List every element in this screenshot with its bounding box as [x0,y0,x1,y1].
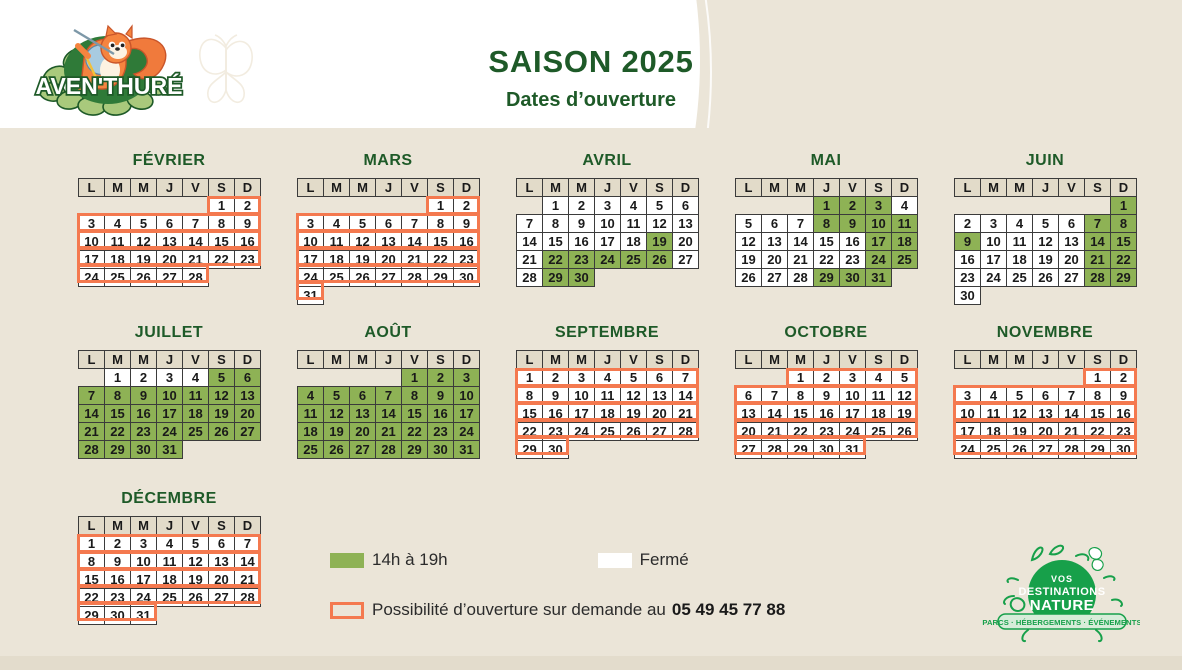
day-cell[interactable]: 31 [298,287,324,305]
day-cell[interactable]: 22 [105,423,131,441]
day-cell[interactable]: 13 [1059,233,1085,251]
day-cell[interactable]: 29 [428,269,454,287]
day-cell[interactable]: 6 [736,387,762,405]
day-cell[interactable]: 17 [981,251,1007,269]
day-cell[interactable]: 20 [350,423,376,441]
day-cell[interactable]: 16 [105,571,131,589]
day-cell[interactable]: 22 [209,251,235,269]
day-cell[interactable]: 1 [105,369,131,387]
day-cell[interactable]: 24 [955,441,981,459]
day-cell[interactable]: 8 [517,387,543,405]
day-cell[interactable]: 28 [673,423,699,441]
day-cell[interactable]: 2 [955,215,981,233]
day-cell[interactable]: 3 [981,215,1007,233]
day-cell[interactable]: 3 [955,387,981,405]
day-cell[interactable]: 6 [157,215,183,233]
day-cell[interactable]: 16 [814,405,840,423]
day-cell[interactable]: 17 [569,405,595,423]
day-cell[interactable]: 6 [647,369,673,387]
day-cell[interactable]: 29 [79,607,105,625]
day-cell[interactable]: 8 [105,387,131,405]
day-cell[interactable]: 19 [1007,423,1033,441]
day-cell[interactable]: 24 [79,269,105,287]
day-cell[interactable]: 20 [376,251,402,269]
day-cell[interactable]: 2 [428,369,454,387]
day-cell[interactable]: 13 [1033,405,1059,423]
day-cell[interactable]: 25 [892,251,918,269]
day-cell[interactable]: 7 [517,215,543,233]
day-cell[interactable]: 1 [543,197,569,215]
day-cell[interactable]: 25 [981,441,1007,459]
day-cell[interactable]: 31 [131,607,157,625]
day-cell[interactable]: 18 [892,233,918,251]
day-cell[interactable]: 12 [621,387,647,405]
day-cell[interactable]: 21 [402,251,428,269]
day-cell[interactable]: 27 [376,269,402,287]
day-cell[interactable]: 10 [79,233,105,251]
day-cell[interactable]: 26 [892,423,918,441]
day-cell[interactable]: 13 [350,405,376,423]
day-cell[interactable]: 23 [131,423,157,441]
day-cell[interactable]: 6 [1059,215,1085,233]
day-cell[interactable]: 28 [235,589,261,607]
day-cell[interactable]: 9 [454,215,480,233]
day-cell[interactable]: 12 [736,233,762,251]
day-cell[interactable]: 21 [673,405,699,423]
day-cell[interactable]: 4 [621,197,647,215]
day-cell[interactable]: 3 [454,369,480,387]
day-cell[interactable]: 5 [209,369,235,387]
day-cell[interactable]: 19 [892,405,918,423]
day-cell[interactable]: 11 [1007,233,1033,251]
day-cell[interactable]: 17 [454,405,480,423]
day-cell[interactable]: 10 [454,387,480,405]
day-cell[interactable]: 7 [788,215,814,233]
day-cell[interactable]: 3 [79,215,105,233]
day-cell[interactable]: 27 [647,423,673,441]
day-cell[interactable]: 20 [235,405,261,423]
day-cell[interactable]: 10 [157,387,183,405]
day-cell[interactable]: 21 [79,423,105,441]
day-cell[interactable]: 14 [183,233,209,251]
day-cell[interactable]: 1 [814,197,840,215]
day-cell[interactable]: 4 [595,369,621,387]
day-cell[interactable]: 8 [1111,215,1137,233]
day-cell[interactable]: 1 [1085,369,1111,387]
day-cell[interactable]: 5 [1033,215,1059,233]
day-cell[interactable]: 24 [157,423,183,441]
day-cell[interactable]: 24 [131,589,157,607]
day-cell[interactable]: 28 [183,269,209,287]
day-cell[interactable]: 23 [105,589,131,607]
day-cell[interactable]: 12 [892,387,918,405]
day-cell[interactable]: 11 [157,553,183,571]
day-cell[interactable]: 7 [762,387,788,405]
day-cell[interactable]: 19 [647,233,673,251]
day-cell[interactable]: 13 [647,387,673,405]
day-cell[interactable]: 9 [131,387,157,405]
day-cell[interactable]: 4 [892,197,918,215]
day-cell[interactable]: 13 [157,233,183,251]
day-cell[interactable]: 23 [1111,423,1137,441]
day-cell[interactable]: 17 [595,233,621,251]
day-cell[interactable]: 7 [79,387,105,405]
day-cell[interactable]: 22 [79,589,105,607]
day-cell[interactable]: 17 [298,251,324,269]
day-cell[interactable]: 26 [647,251,673,269]
day-cell[interactable]: 10 [298,233,324,251]
day-cell[interactable]: 14 [1059,405,1085,423]
day-cell[interactable]: 6 [235,369,261,387]
day-cell[interactable]: 8 [814,215,840,233]
day-cell[interactable]: 17 [79,251,105,269]
day-cell[interactable]: 19 [324,423,350,441]
day-cell[interactable]: 26 [209,423,235,441]
day-cell[interactable]: 1 [428,197,454,215]
day-cell[interactable]: 27 [1059,269,1085,287]
day-cell[interactable]: 26 [736,269,762,287]
day-cell[interactable]: 23 [955,269,981,287]
day-cell[interactable]: 29 [788,441,814,459]
day-cell[interactable]: 2 [569,197,595,215]
day-cell[interactable]: 16 [235,233,261,251]
day-cell[interactable]: 16 [840,233,866,251]
day-cell[interactable]: 18 [595,405,621,423]
day-cell[interactable]: 7 [376,387,402,405]
day-cell[interactable]: 9 [105,553,131,571]
day-cell[interactable]: 17 [866,233,892,251]
day-cell[interactable]: 18 [157,571,183,589]
day-cell[interactable]: 14 [79,405,105,423]
day-cell[interactable]: 3 [157,369,183,387]
day-cell[interactable]: 19 [131,251,157,269]
day-cell[interactable]: 16 [543,405,569,423]
day-cell[interactable]: 24 [298,269,324,287]
day-cell[interactable]: 10 [955,405,981,423]
day-cell[interactable]: 28 [79,441,105,459]
day-cell[interactable]: 13 [376,233,402,251]
day-cell[interactable]: 31 [840,441,866,459]
day-cell[interactable]: 9 [428,387,454,405]
day-cell[interactable]: 27 [736,441,762,459]
day-cell[interactable]: 1 [402,369,428,387]
day-cell[interactable]: 5 [324,387,350,405]
day-cell[interactable]: 27 [673,251,699,269]
day-cell[interactable]: 24 [981,269,1007,287]
day-cell[interactable]: 16 [1111,405,1137,423]
day-cell[interactable]: 28 [762,441,788,459]
day-cell[interactable]: 30 [105,607,131,625]
day-cell[interactable]: 3 [866,197,892,215]
day-cell[interactable]: 24 [454,423,480,441]
day-cell[interactable]: 23 [543,423,569,441]
day-cell[interactable]: 6 [350,387,376,405]
day-cell[interactable]: 4 [866,369,892,387]
day-cell[interactable]: 18 [621,233,647,251]
day-cell[interactable]: 30 [840,269,866,287]
day-cell[interactable]: 13 [235,387,261,405]
day-cell[interactable]: 7 [673,369,699,387]
day-cell[interactable]: 5 [131,215,157,233]
day-cell[interactable]: 10 [981,233,1007,251]
day-cell[interactable]: 16 [454,233,480,251]
day-cell[interactable]: 6 [673,197,699,215]
day-cell[interactable]: 3 [131,535,157,553]
day-cell[interactable]: 20 [1033,423,1059,441]
day-cell[interactable]: 14 [673,387,699,405]
day-cell[interactable]: 18 [298,423,324,441]
day-cell[interactable]: 30 [454,269,480,287]
day-cell[interactable]: 4 [298,387,324,405]
day-cell[interactable]: 17 [131,571,157,589]
day-cell[interactable]: 18 [105,251,131,269]
day-cell[interactable]: 14 [788,233,814,251]
day-cell[interactable]: 23 [428,423,454,441]
day-cell[interactable]: 8 [79,553,105,571]
day-cell[interactable]: 9 [569,215,595,233]
day-cell[interactable]: 25 [866,423,892,441]
day-cell[interactable]: 29 [543,269,569,287]
day-cell[interactable]: 21 [788,251,814,269]
day-cell[interactable]: 11 [183,387,209,405]
day-cell[interactable]: 2 [840,197,866,215]
day-cell[interactable]: 30 [543,441,569,459]
day-cell[interactable]: 13 [762,233,788,251]
day-cell[interactable]: 28 [376,441,402,459]
day-cell[interactable]: 20 [647,405,673,423]
day-cell[interactable]: 23 [569,251,595,269]
day-cell[interactable]: 7 [402,215,428,233]
day-cell[interactable]: 3 [595,197,621,215]
day-cell[interactable]: 29 [1085,441,1111,459]
day-cell[interactable]: 26 [621,423,647,441]
day-cell[interactable]: 15 [79,571,105,589]
day-cell[interactable]: 15 [517,405,543,423]
day-cell[interactable]: 5 [621,369,647,387]
day-cell[interactable]: 25 [183,423,209,441]
day-cell[interactable]: 26 [1007,441,1033,459]
day-cell[interactable]: 24 [595,251,621,269]
day-cell[interactable]: 18 [981,423,1007,441]
day-cell[interactable]: 11 [105,233,131,251]
day-cell[interactable]: 21 [183,251,209,269]
day-cell[interactable]: 15 [428,233,454,251]
day-cell[interactable]: 27 [235,423,261,441]
day-cell[interactable]: 28 [1085,269,1111,287]
day-cell[interactable]: 4 [183,369,209,387]
day-cell[interactable]: 5 [350,215,376,233]
day-cell[interactable]: 25 [157,589,183,607]
day-cell[interactable]: 5 [647,197,673,215]
day-cell[interactable]: 15 [209,233,235,251]
day-cell[interactable]: 29 [105,441,131,459]
day-cell[interactable]: 10 [840,387,866,405]
day-cell[interactable]: 20 [209,571,235,589]
day-cell[interactable]: 25 [595,423,621,441]
day-cell[interactable]: 8 [209,215,235,233]
day-cell[interactable]: 9 [1111,387,1137,405]
day-cell[interactable]: 15 [105,405,131,423]
day-cell[interactable]: 3 [569,369,595,387]
day-cell[interactable]: 27 [157,269,183,287]
day-cell[interactable]: 2 [105,535,131,553]
day-cell[interactable]: 24 [840,423,866,441]
day-cell[interactable]: 11 [298,405,324,423]
day-cell[interactable]: 21 [1085,251,1111,269]
day-cell[interactable]: 27 [209,589,235,607]
day-cell[interactable]: 17 [840,405,866,423]
day-cell[interactable]: 25 [298,441,324,459]
day-cell[interactable]: 5 [736,215,762,233]
day-cell[interactable]: 18 [183,405,209,423]
day-cell[interactable]: 18 [324,251,350,269]
day-cell[interactable]: 1 [1111,197,1137,215]
day-cell[interactable]: 15 [402,405,428,423]
day-cell[interactable]: 12 [324,405,350,423]
day-cell[interactable]: 3 [298,215,324,233]
day-cell[interactable]: 31 [157,441,183,459]
day-cell[interactable]: 26 [183,589,209,607]
day-cell[interactable]: 14 [762,405,788,423]
day-cell[interactable]: 1 [788,369,814,387]
day-cell[interactable]: 4 [157,535,183,553]
day-cell[interactable]: 15 [788,405,814,423]
day-cell[interactable]: 4 [981,387,1007,405]
day-cell[interactable]: 12 [1007,405,1033,423]
day-cell[interactable]: 21 [376,423,402,441]
day-cell[interactable]: 25 [1007,269,1033,287]
day-cell[interactable]: 20 [673,233,699,251]
day-cell[interactable]: 22 [543,251,569,269]
day-cell[interactable]: 28 [788,269,814,287]
day-cell[interactable]: 11 [324,233,350,251]
day-cell[interactable]: 13 [736,405,762,423]
day-cell[interactable]: 28 [517,269,543,287]
day-cell[interactable]: 11 [981,405,1007,423]
day-cell[interactable]: 30 [569,269,595,287]
day-cell[interactable]: 12 [131,233,157,251]
day-cell[interactable]: 4 [105,215,131,233]
day-cell[interactable]: 7 [235,535,261,553]
day-cell[interactable]: 15 [814,233,840,251]
day-cell[interactable]: 5 [892,369,918,387]
day-cell[interactable]: 29 [1111,269,1137,287]
day-cell[interactable]: 21 [1059,423,1085,441]
day-cell[interactable]: 9 [235,215,261,233]
day-cell[interactable]: 20 [736,423,762,441]
day-cell[interactable]: 30 [1111,441,1137,459]
day-cell[interactable]: 16 [955,251,981,269]
day-cell[interactable]: 25 [621,251,647,269]
day-cell[interactable]: 29 [402,441,428,459]
day-cell[interactable]: 21 [517,251,543,269]
day-cell[interactable]: 30 [955,287,981,305]
day-cell[interactable]: 7 [183,215,209,233]
day-cell[interactable]: 2 [235,197,261,215]
day-cell[interactable]: 31 [866,269,892,287]
contact-phone-number[interactable]: 05 49 45 77 88 [672,600,785,620]
day-cell[interactable]: 23 [840,251,866,269]
day-cell[interactable]: 21 [235,571,261,589]
day-cell[interactable]: 23 [454,251,480,269]
day-cell[interactable]: 25 [105,269,131,287]
day-cell[interactable]: 8 [402,387,428,405]
day-cell[interactable]: 17 [157,405,183,423]
day-cell[interactable]: 14 [376,405,402,423]
day-cell[interactable]: 2 [454,197,480,215]
day-cell[interactable]: 11 [892,215,918,233]
day-cell[interactable]: 22 [428,251,454,269]
day-cell[interactable]: 15 [1085,405,1111,423]
day-cell[interactable]: 15 [1111,233,1137,251]
day-cell[interactable]: 17 [955,423,981,441]
day-cell[interactable]: 29 [814,269,840,287]
day-cell[interactable]: 6 [762,215,788,233]
day-cell[interactable]: 7 [1059,387,1085,405]
vos-destinations-nature-logo[interactable]: VOS DESTINATIONS NATURE PARCS · HÉBERGEM… [980,544,1140,644]
day-cell[interactable]: 22 [814,251,840,269]
day-cell[interactable]: 2 [814,369,840,387]
day-cell[interactable]: 12 [647,215,673,233]
day-cell[interactable]: 30 [428,441,454,459]
day-cell[interactable]: 2 [131,369,157,387]
day-cell[interactable]: 26 [1033,269,1059,287]
day-cell[interactable]: 25 [324,269,350,287]
day-cell[interactable]: 1 [79,535,105,553]
day-cell[interactable]: 14 [517,233,543,251]
day-cell[interactable]: 19 [183,571,209,589]
day-cell[interactable]: 29 [517,441,543,459]
day-cell[interactable]: 14 [1085,233,1111,251]
day-cell[interactable]: 6 [376,215,402,233]
day-cell[interactable]: 22 [788,423,814,441]
day-cell[interactable]: 6 [1033,387,1059,405]
day-cell[interactable]: 11 [595,387,621,405]
day-cell[interactable]: 26 [350,269,376,287]
day-cell[interactable]: 20 [157,251,183,269]
day-cell[interactable]: 10 [569,387,595,405]
day-cell[interactable]: 22 [1111,251,1137,269]
day-cell[interactable]: 20 [762,251,788,269]
day-cell[interactable]: 18 [1007,251,1033,269]
day-cell[interactable]: 19 [621,405,647,423]
day-cell[interactable]: 12 [183,553,209,571]
day-cell[interactable]: 12 [209,387,235,405]
day-cell[interactable]: 5 [183,535,209,553]
day-cell[interactable]: 13 [673,215,699,233]
day-cell[interactable]: 19 [736,251,762,269]
day-cell[interactable]: 9 [955,233,981,251]
day-cell[interactable]: 1 [209,197,235,215]
day-cell[interactable]: 27 [762,269,788,287]
day-cell[interactable]: 30 [131,441,157,459]
day-cell[interactable]: 9 [543,387,569,405]
day-cell[interactable]: 8 [1085,387,1111,405]
day-cell[interactable]: 3 [840,369,866,387]
day-cell[interactable]: 14 [402,233,428,251]
day-cell[interactable]: 24 [569,423,595,441]
day-cell[interactable]: 16 [569,233,595,251]
day-cell[interactable]: 16 [428,405,454,423]
day-cell[interactable]: 2 [1111,369,1137,387]
day-cell[interactable]: 23 [235,251,261,269]
day-cell[interactable]: 7 [1085,215,1111,233]
day-cell[interactable]: 30 [814,441,840,459]
day-cell[interactable]: 22 [1085,423,1111,441]
day-cell[interactable]: 11 [621,215,647,233]
day-cell[interactable]: 10 [595,215,621,233]
day-cell[interactable]: 26 [324,441,350,459]
